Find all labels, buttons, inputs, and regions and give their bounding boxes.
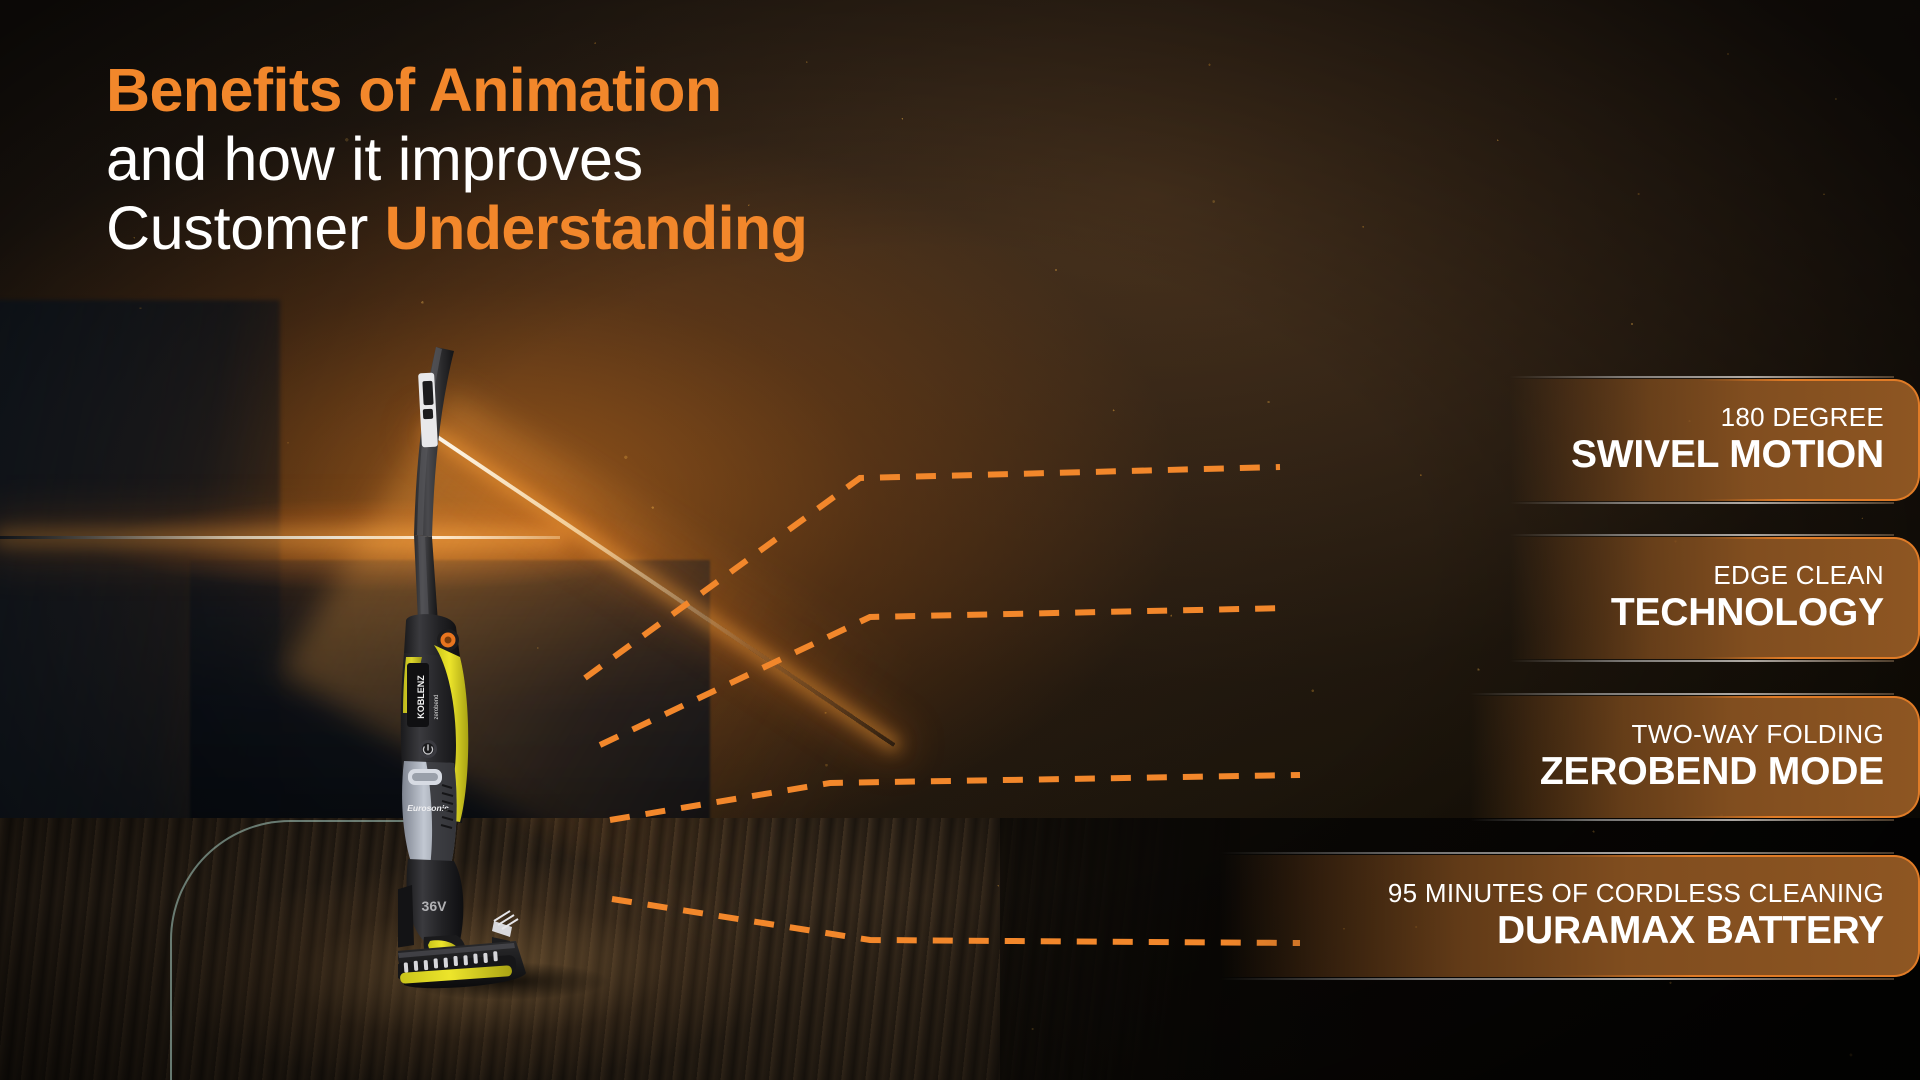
feature-title: DURAMAX BATTERY [1497,909,1884,953]
connector-line-1 [585,467,1280,678]
feature-box-swivel-motion[interactable]: 180 DEGREE SWIVEL MOTION [1510,379,1920,501]
connector-line-4 [612,899,1300,943]
feature-title: TECHNOLOGY [1611,591,1884,635]
feature-box-zerobend-mode[interactable]: TWO-WAY FOLDING ZEROBEND MODE [1470,696,1920,818]
feature-subtitle: EDGE CLEAN [1713,561,1884,590]
feature-subtitle: TWO-WAY FOLDING [1632,720,1884,749]
feature-box-duramax-battery[interactable]: 95 MINUTES OF CORDLESS CLEANING DURAMAX … [1220,855,1920,977]
feature-box-edge-clean-technology[interactable]: EDGE CLEAN TECHNOLOGY [1510,537,1920,659]
connector-line-2 [600,608,1288,745]
feature-title: SWIVEL MOTION [1571,433,1884,477]
feature-subtitle: 180 DEGREE [1721,403,1884,432]
connector-line-3 [610,775,1300,820]
feature-subtitle: 95 MINUTES OF CORDLESS CLEANING [1388,879,1884,908]
slide-canvas: Benefits of Animation and how it improve… [0,0,1920,1080]
feature-title: ZEROBEND MODE [1540,750,1884,794]
